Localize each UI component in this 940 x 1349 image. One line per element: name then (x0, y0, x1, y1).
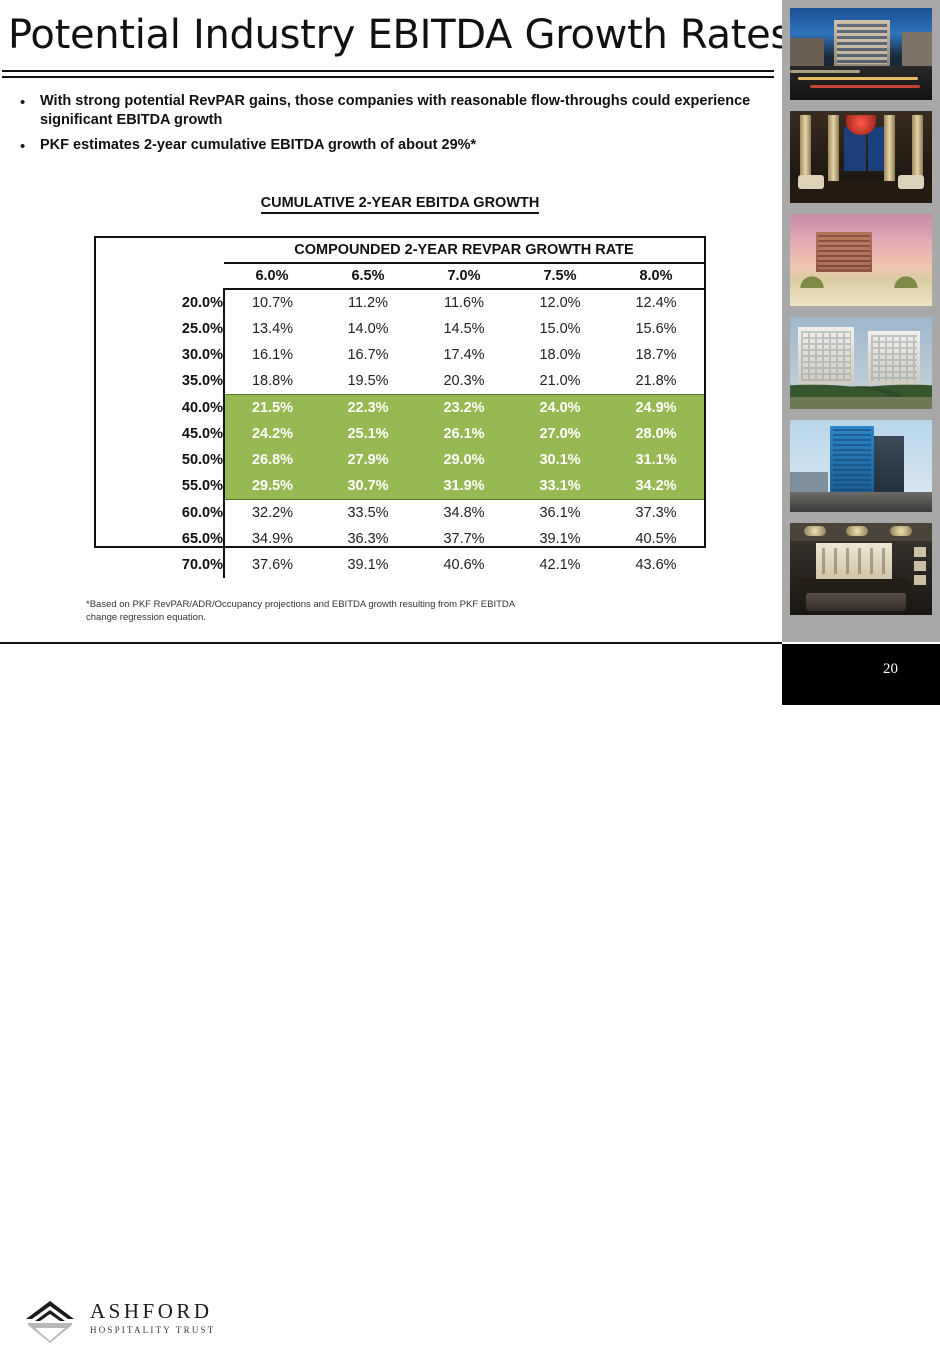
table-row: 50.0%26.8%27.9%29.0%30.1%31.1% (96, 447, 704, 473)
table-caption-text: CUMULATIVE 2-YEAR EBITDA GROWTH (261, 195, 540, 214)
table-cell: 30.7% (320, 473, 416, 500)
table-cell: 32.2% (224, 500, 320, 527)
footer: ASHFORD HOSPITALITY TRUST (0, 644, 782, 705)
table-cell: 29.5% (224, 473, 320, 500)
corner-cell-2 (96, 263, 224, 289)
table-group-header-row: COMPOUNDED 2-YEAR REVPAR GROWTH RATE (96, 238, 704, 263)
logo-name: ASHFORD (90, 1300, 215, 1323)
table-cell: 16.7% (320, 342, 416, 368)
title-rule-upper (2, 70, 774, 72)
table-cell: 37.6% (224, 552, 320, 578)
photo-thumbnail (790, 420, 932, 512)
table-cell: 36.3% (320, 526, 416, 552)
table-cell: 24.9% (608, 395, 704, 422)
table-cell: 27.0% (512, 421, 608, 447)
page-number-panel: 20 (782, 644, 940, 705)
table-cell: 18.8% (224, 368, 320, 395)
table-cell: 31.9% (416, 473, 512, 500)
table-cell: 26.1% (416, 421, 512, 447)
table-cell: 24.0% (512, 395, 608, 422)
row-header: 70.0% (96, 552, 224, 578)
ashford-logo: ASHFORD HOSPITALITY TRUST (24, 1296, 254, 1344)
column-header: 6.0% (224, 263, 320, 289)
list-item: • With strong potential RevPAR gains, th… (10, 92, 772, 130)
table-cell: 10.7% (224, 289, 320, 316)
table-cell: 19.5% (320, 368, 416, 395)
table-cell: 34.2% (608, 473, 704, 500)
table-cell: 11.6% (416, 289, 512, 316)
table-cell: 18.7% (608, 342, 704, 368)
table-cell: 25.1% (320, 421, 416, 447)
table-cell: 18.0% (512, 342, 608, 368)
row-header: 60.0% (96, 500, 224, 527)
table-row: 45.0%24.2%25.1%26.1%27.0%28.0% (96, 421, 704, 447)
table-caption: CUMULATIVE 2-YEAR EBITDA GROWTH (94, 195, 706, 211)
row-header: 25.0% (96, 316, 224, 342)
list-item: • PKF estimates 2-year cumulative EBITDA… (10, 136, 772, 155)
photo-thumbnail (790, 8, 932, 100)
table-cell: 40.5% (608, 526, 704, 552)
photo-strip (782, 0, 940, 642)
table-cell: 40.6% (416, 552, 512, 578)
table-body: 20.0%10.7%11.2%11.6%12.0%12.4%25.0%13.4%… (96, 289, 704, 578)
table-cell: 22.3% (320, 395, 416, 422)
table-cell: 37.7% (416, 526, 512, 552)
hotel-lobby-image (790, 111, 932, 203)
table-cell: 33.1% (512, 473, 608, 500)
row-header: 20.0% (96, 289, 224, 316)
table-cell: 14.5% (416, 316, 512, 342)
title-rule-lower (2, 76, 774, 78)
column-header: 7.0% (416, 263, 512, 289)
row-header: 40.0% (96, 395, 224, 422)
table-cell: 42.1% (512, 552, 608, 578)
column-header: 7.5% (512, 263, 608, 289)
table-cell: 34.9% (224, 526, 320, 552)
table-row: 35.0%18.8%19.5%20.3%21.0%21.8% (96, 368, 704, 395)
chevron-diamond-icon (24, 1298, 76, 1344)
table-row: 40.0%21.5%22.3%23.2%24.0%24.9% (96, 395, 704, 422)
historic-hotel-image (790, 317, 932, 409)
column-header: 6.5% (320, 263, 416, 289)
ebitda-growth-table: COMPOUNDED 2-YEAR REVPAR GROWTH RATE 6.0… (94, 236, 706, 548)
photo-thumbnail (790, 111, 932, 203)
bullet-list: • With strong potential RevPAR gains, th… (10, 92, 772, 161)
footnote: *Based on PKF RevPAR/ADR/Occupancy proje… (86, 598, 516, 624)
table-row: 55.0%29.5%30.7%31.9%33.1%34.2% (96, 473, 704, 500)
row-header: 55.0% (96, 473, 224, 500)
table-cell: 15.6% (608, 316, 704, 342)
table-cell: 11.2% (320, 289, 416, 316)
column-header: 8.0% (608, 263, 704, 289)
table-cell: 26.8% (224, 447, 320, 473)
table-head: COMPOUNDED 2-YEAR REVPAR GROWTH RATE 6.0… (96, 238, 704, 289)
table-row: 20.0%10.7%11.2%11.6%12.0%12.4% (96, 289, 704, 316)
table-cell: 28.0% (608, 421, 704, 447)
photo-thumbnail (790, 523, 932, 615)
ashford-chevron-icon (24, 1298, 76, 1344)
table-cell: 27.9% (320, 447, 416, 473)
bullet-text: With strong potential RevPAR gains, thos… (40, 93, 750, 128)
glass-tower-hotel-image (790, 420, 932, 512)
logo-tagline: HOSPITALITY TRUST (90, 1324, 215, 1336)
table-column-header-row: 6.0% 6.5% 7.0% 7.5% 8.0% (96, 263, 704, 289)
logo-text-block: ASHFORD HOSPITALITY TRUST (90, 1300, 215, 1336)
table-cell: 33.5% (320, 500, 416, 527)
table-cell: 21.8% (608, 368, 704, 395)
table-row: 60.0%32.2%33.5%34.8%36.1%37.3% (96, 500, 704, 527)
table-cell: 15.0% (512, 316, 608, 342)
table-row: 70.0%37.6%39.1%40.6%42.1%43.6% (96, 552, 704, 578)
table-cell: 34.8% (416, 500, 512, 527)
hotel-exterior-dusk-image (790, 8, 932, 100)
table-cell: 21.5% (224, 395, 320, 422)
table-grid: COMPOUNDED 2-YEAR REVPAR GROWTH RATE 6.0… (96, 238, 704, 578)
table-cell: 21.0% (512, 368, 608, 395)
table-cell: 12.0% (512, 289, 608, 316)
slide: Potential Industry EBITDA Growth Rates •… (0, 0, 940, 705)
bullet-marker-icon: • (20, 93, 25, 112)
bullet-marker-icon: • (20, 137, 25, 156)
column-group-header: COMPOUNDED 2-YEAR REVPAR GROWTH RATE (224, 238, 704, 263)
photo-thumbnail (790, 214, 932, 306)
table-cell: 24.2% (224, 421, 320, 447)
table-cell: 30.1% (512, 447, 608, 473)
page-number: 20 (883, 661, 898, 678)
row-header: 50.0% (96, 447, 224, 473)
beach-resort-image (790, 214, 932, 306)
photo-thumbnail (790, 317, 932, 409)
table-cell: 39.1% (320, 552, 416, 578)
table-cell: 39.1% (512, 526, 608, 552)
table-cell: 12.4% (608, 289, 704, 316)
table-row: 30.0%16.1%16.7%17.4%18.0%18.7% (96, 342, 704, 368)
table-cell: 37.3% (608, 500, 704, 527)
table-cell: 31.1% (608, 447, 704, 473)
table-row: 25.0%13.4%14.0%14.5%15.0%15.6% (96, 316, 704, 342)
table-cell: 43.6% (608, 552, 704, 578)
row-header: 65.0% (96, 526, 224, 552)
bullet-text: PKF estimates 2-year cumulative EBITDA g… (40, 137, 476, 153)
corner-cell (96, 238, 224, 263)
table-row: 65.0%34.9%36.3%37.7%39.1%40.5% (96, 526, 704, 552)
table-cell: 13.4% (224, 316, 320, 342)
table-cell: 14.0% (320, 316, 416, 342)
hotel-bar-lounge-image (790, 523, 932, 615)
slide-content: Potential Industry EBITDA Growth Rates •… (0, 0, 782, 642)
table-cell: 36.1% (512, 500, 608, 527)
row-header: 35.0% (96, 368, 224, 395)
page-title: Potential Industry EBITDA Growth Rates (8, 8, 768, 62)
table-cell: 17.4% (416, 342, 512, 368)
table-cell: 16.1% (224, 342, 320, 368)
table-cell: 23.2% (416, 395, 512, 422)
row-header: 45.0% (96, 421, 224, 447)
table-cell: 20.3% (416, 368, 512, 395)
table-cell: 29.0% (416, 447, 512, 473)
row-header: 30.0% (96, 342, 224, 368)
